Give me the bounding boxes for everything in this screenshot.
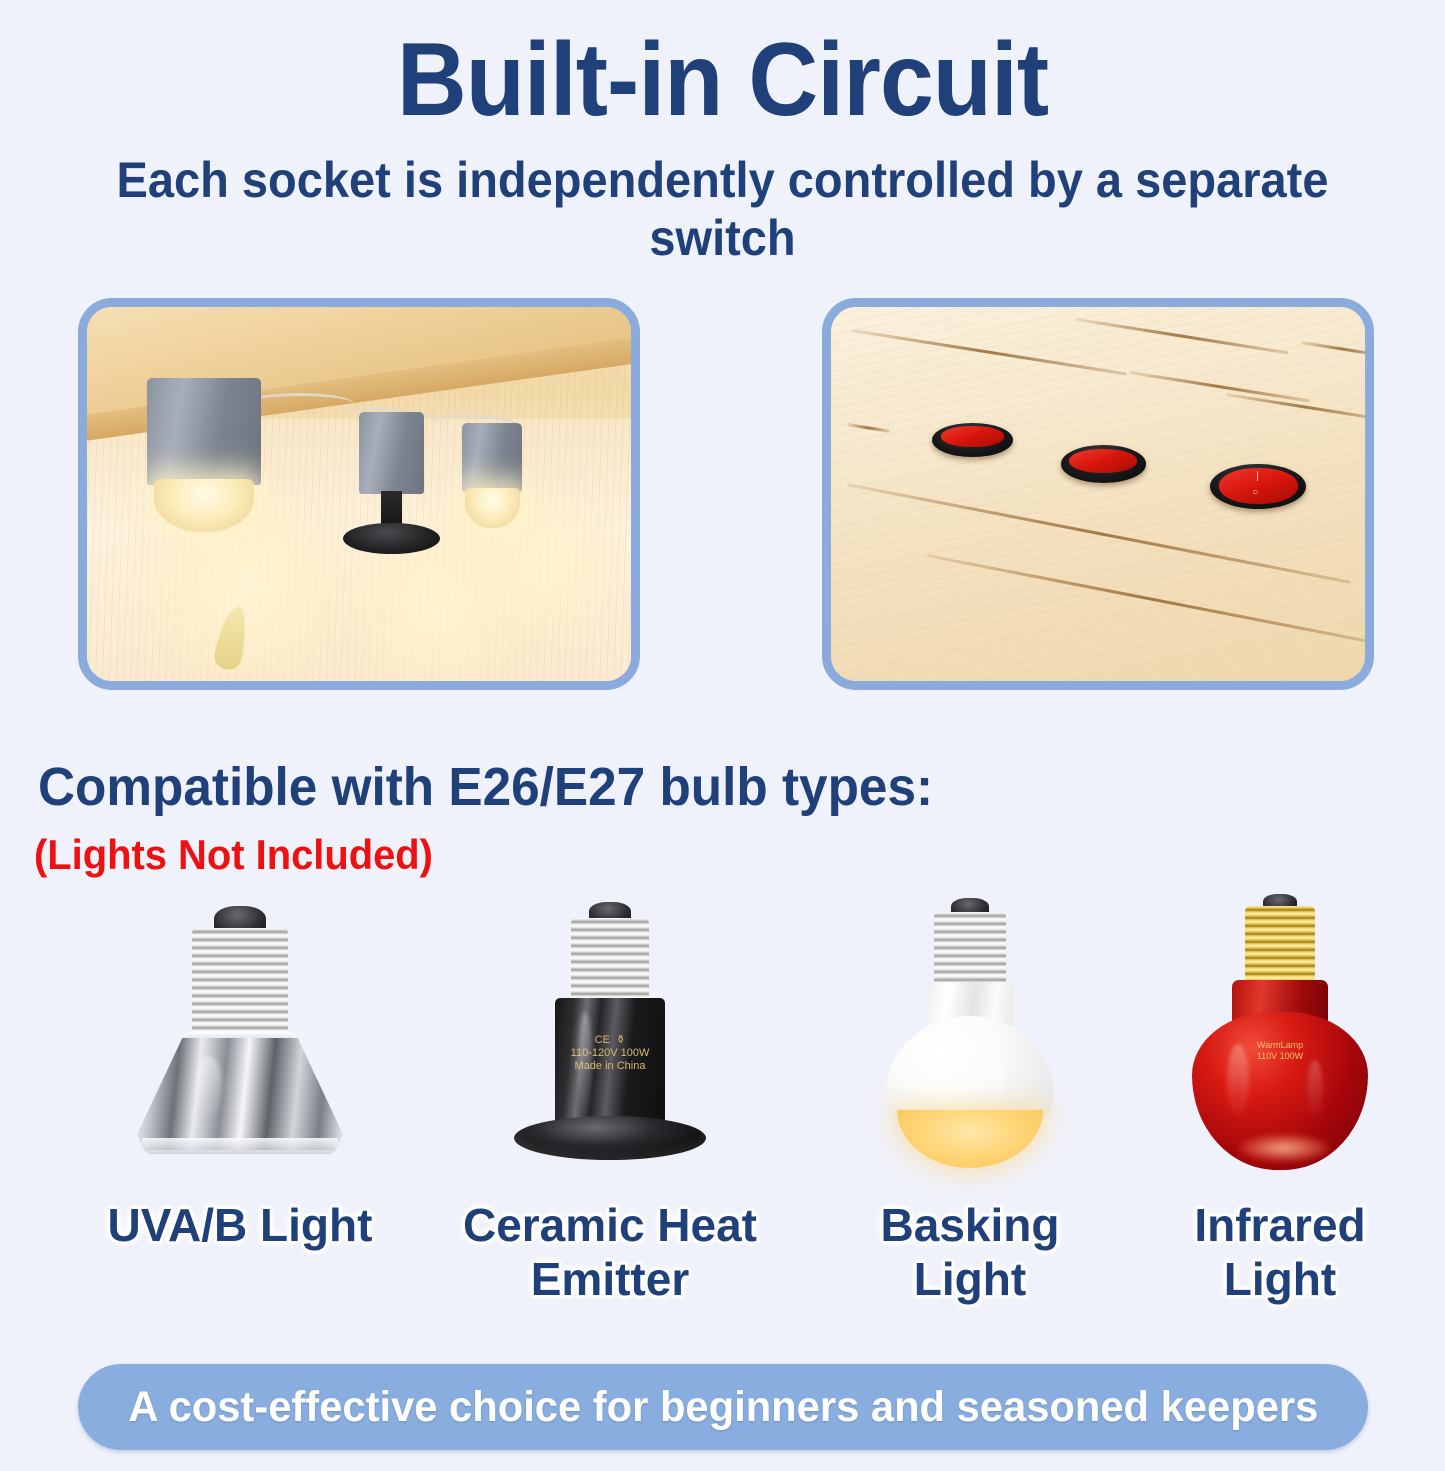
bottom-banner: A cost-effective choice for beginners an… [78, 1364, 1368, 1450]
bulb-item-ceramic: CE ⚱ 110-120V 100W Made in China [420, 888, 800, 1188]
compatibility-heading: Compatible with E26/E27 bulb types: [38, 756, 933, 818]
bulb-label-line: Light [1130, 1252, 1430, 1306]
uvb-bulb-graphic [130, 906, 350, 1156]
bulb-label-uvb: UVA/B Light [40, 1198, 440, 1252]
bulb-item-infrared: WarmLamp 110V 100W [1130, 888, 1430, 1188]
bulb-label-ceramic: Ceramic Heat Emitter [420, 1198, 800, 1307]
bulb-item-uvb [40, 888, 440, 1188]
basking-bulb-graphic [880, 898, 1060, 1166]
ceramic-heat-emitter-graphic: CE ⚱ 110-120V 100W Made in China [510, 902, 710, 1160]
bulb-label-basking: Basking Light [800, 1198, 1140, 1307]
lamp-socket [359, 412, 424, 554]
photo-panel-sockets [78, 298, 640, 690]
bulb-label-line: Light [800, 1252, 1140, 1306]
bulb-label-line: Emitter [420, 1252, 800, 1306]
lamp-socket [147, 378, 261, 535]
switch-photo: | ○ [831, 307, 1365, 681]
rocker-switch[interactable]: | ○ [1210, 464, 1306, 509]
lamp-socket [462, 423, 522, 535]
bulb-label-line: Basking [800, 1198, 1140, 1252]
rocker-switch[interactable] [1061, 445, 1146, 482]
rocker-switch[interactable] [932, 423, 1012, 457]
banner-text: A cost-effective choice for beginners an… [128, 1383, 1318, 1432]
socket-photo [87, 307, 631, 681]
bulb-gallery: CE ⚱ 110-120V 100W Made in China [0, 888, 1445, 1188]
bulb-label-line: UVA/B Light [40, 1198, 440, 1252]
bulb-label-infrared: Infrared Light [1130, 1198, 1430, 1307]
page-title: Built-in Circuit [51, 26, 1395, 135]
bulb-label-line: Ceramic Heat [420, 1198, 800, 1252]
photo-panels: | ○ [0, 298, 1445, 698]
page-subtitle: Each socket is independently controlled … [43, 151, 1401, 267]
bulb-label-line: Infrared [1130, 1198, 1430, 1252]
lights-not-included-notice: (Lights Not Included) [34, 831, 433, 879]
infrared-bulb-graphic: WarmLamp 110V 100W [1185, 894, 1375, 1174]
bulb-item-basking [800, 888, 1140, 1188]
photo-panel-switches: | ○ [822, 298, 1374, 690]
